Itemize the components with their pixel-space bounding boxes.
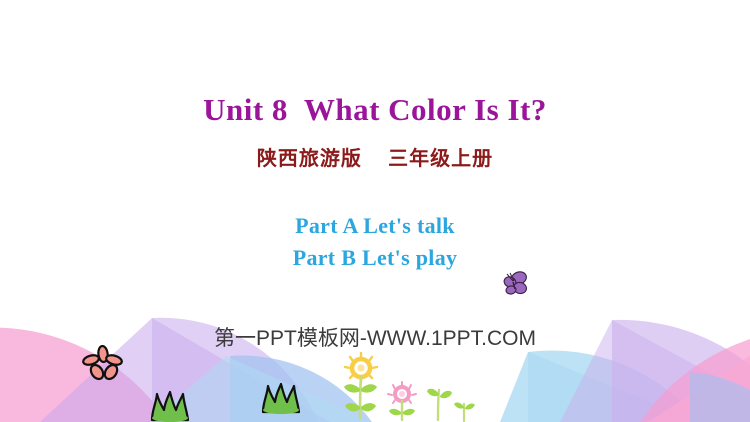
fan-shape-blue-right — [690, 372, 750, 422]
part-item-a[interactable]: Part A Let's talk — [0, 210, 750, 242]
edition-subtitle: 陕西旅游版 三年级上册 — [0, 142, 750, 171]
sunflower-icon — [336, 352, 386, 422]
part-list: Part A Let's talk Part B Let's play — [0, 210, 750, 274]
fan-shape-sky-right-body — [500, 352, 700, 422]
butterfly-icon — [499, 269, 531, 299]
grass-icon — [146, 388, 194, 422]
grass-icon — [257, 380, 305, 414]
page-title: Unit 8 What Color Is It? — [0, 92, 750, 128]
sprout-icon — [452, 398, 478, 422]
pink-flower-icon — [381, 381, 423, 422]
title-block: Unit 8 What Color Is It? 陕西旅游版 三年级上册 — [0, 92, 750, 171]
part-item-b[interactable]: Part B Let's play — [0, 242, 750, 274]
flower-icon — [82, 345, 126, 383]
fan-shape-sky-right — [528, 351, 700, 422]
presentation-slide: Unit 8 What Color Is It? 陕西旅游版 三年级上册 Par… — [0, 0, 750, 422]
